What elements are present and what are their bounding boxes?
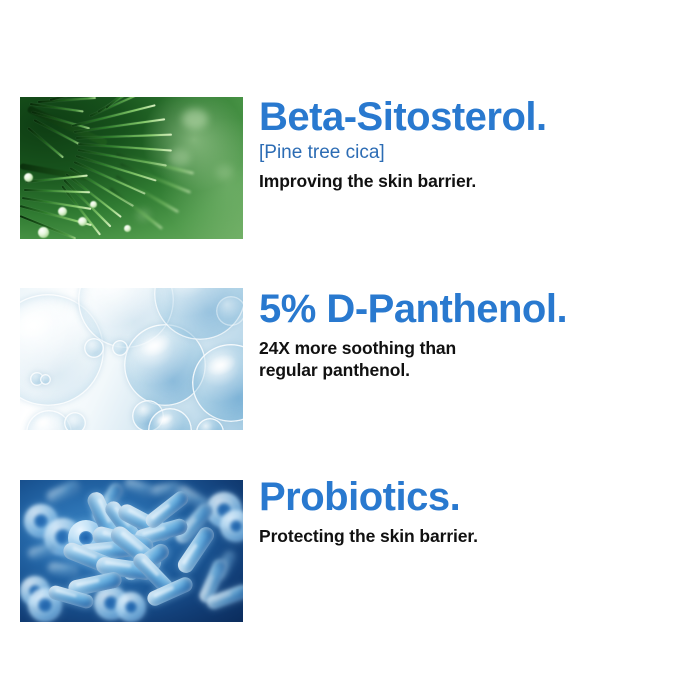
feature-description: Protecting the skin barrier.: [259, 525, 679, 547]
pine-needles-photo: [20, 97, 243, 239]
feature-copy: 5% D-Panthenol. 24X more soothing than r…: [259, 289, 679, 382]
feature-headline: 5% D-Panthenol.: [259, 289, 679, 329]
pine-needles-artwork: [20, 97, 243, 239]
feature-description: Improving the skin barrier.: [259, 170, 679, 192]
feature-headline: Probiotics.: [259, 477, 679, 517]
feature-bracket-note: [Pine tree cica]: [259, 142, 679, 164]
feature-headline: Beta-Sitosterol.: [259, 97, 679, 137]
feature-copy: Probiotics. Protecting the skin barrier.: [259, 477, 679, 547]
feature-copy: Beta-Sitosterol. [Pine tree cica] Improv…: [259, 97, 679, 192]
ingredient-benefits-infographic: Beta-Sitosterol. [Pine tree cica] Improv…: [0, 0, 679, 679]
water-bubbles-photo: [20, 288, 243, 430]
feature-description: 24X more soothing than regular panthenol…: [259, 337, 679, 382]
probiotic-bacteria-photo: [20, 480, 243, 622]
water-bubbles-artwork: [20, 288, 243, 430]
probiotic-bacteria-artwork: [20, 480, 243, 622]
